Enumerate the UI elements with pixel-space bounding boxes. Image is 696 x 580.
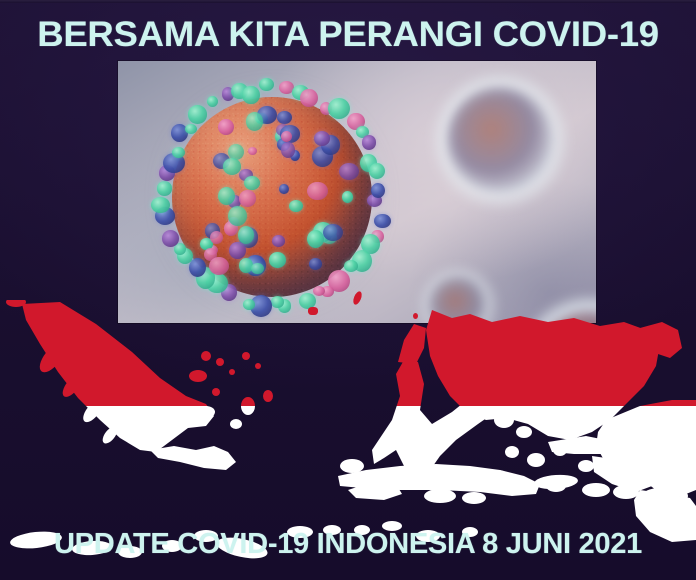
top-edge-line	[0, 0, 696, 3]
spike-protein	[269, 252, 287, 268]
spike-protein	[328, 98, 350, 119]
spike-protein	[277, 111, 291, 124]
spike-protein	[172, 147, 185, 158]
spike-protein	[248, 147, 257, 155]
spike-protein	[188, 105, 207, 123]
spike-protein	[218, 187, 235, 205]
spike-protein	[313, 286, 325, 296]
coronavirus-photo	[118, 61, 596, 323]
main-virion	[146, 75, 396, 323]
map-flag-fill	[0, 300, 696, 565]
poster-footer: UPDATE COVID-19 INDONESIA 8 JUNI 2021	[0, 527, 696, 561]
spike-protein	[223, 158, 242, 175]
flag-red-band	[0, 300, 696, 406]
spike-protein	[362, 135, 377, 150]
spike-protein	[272, 235, 285, 247]
spike-protein	[259, 78, 274, 91]
spike-protein	[189, 258, 206, 277]
poster-headline: BERSAMA KITA PERANGI COVID-19	[0, 14, 696, 54]
indonesia-map	[0, 300, 696, 565]
covid-poster: BERSAMA KITA PERANGI COVID-19	[0, 0, 696, 580]
spike-protein	[309, 258, 322, 270]
spike-protein	[342, 191, 353, 203]
spike-protein	[151, 197, 170, 213]
spike-protein	[242, 86, 260, 105]
spike-protein	[157, 181, 173, 196]
spike-protein	[238, 226, 255, 244]
spike-protein	[229, 242, 245, 259]
spike-protein	[162, 230, 179, 246]
spike-protein	[244, 176, 260, 190]
spike-protein	[371, 183, 385, 198]
spike-protein	[207, 96, 218, 107]
spike-protein	[185, 124, 197, 134]
spike-protein	[239, 190, 255, 206]
spike-protein	[279, 184, 288, 194]
spike-protein	[374, 214, 391, 229]
spike-protein	[369, 163, 385, 179]
spike-protein	[300, 89, 317, 107]
background-virion-large	[446, 86, 554, 194]
spike-protein	[323, 224, 343, 241]
spike-protein	[289, 200, 303, 212]
